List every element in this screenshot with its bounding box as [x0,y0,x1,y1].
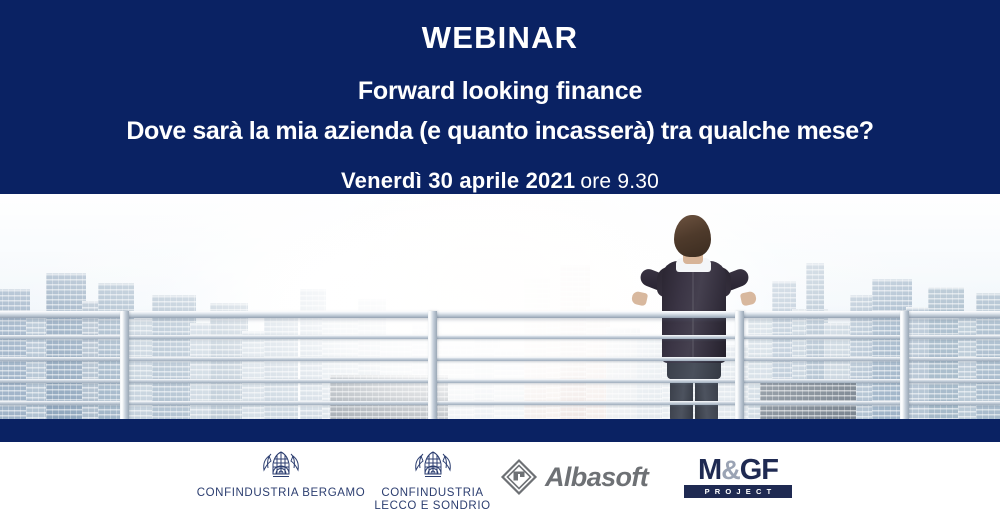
confindustria-eagle-icon [259,450,303,482]
sponsor-logo-bar: CONFINDUSTRIA BERGAMO [0,442,1000,522]
logo-mgf-project[interactable]: M&GF PROJECT [684,457,792,498]
logo-label-line-1: CONFINDUSTRIA [370,487,495,500]
webinar-banner: WEBINAR Forward looking finance Dove sar… [0,0,1000,522]
logo-albasoft[interactable]: Albasoft [500,458,665,496]
event-date: Venerdì 30 aprile 2021 [341,168,575,193]
lower-accent-band [0,419,1000,442]
albasoft-diamond-icon [500,458,538,496]
mgf-letters-gf: GF [740,454,778,486]
mgf-wordmark: M&GF [684,457,792,483]
city-skyline [0,194,1000,419]
logo-label-line-2: LECCO E SONDRIO [370,500,495,513]
mgf-letter-m: M [698,454,721,486]
logo-confindustria-lecco-sondrio[interactable]: CONFINDUSTRIA LECCO E SONDRIO [370,450,495,513]
event-type-title: WEBINAR [0,0,1000,53]
hero-photo [0,194,1000,419]
event-datetime: Venerdì 30 aprile 2021ore 9.30 [0,144,1000,192]
businessman-figure [631,215,757,419]
event-subtitle-line-1: Forward looking finance [0,53,1000,104]
mgf-ampersand: & [721,455,740,485]
header-panel: WEBINAR Forward looking finance Dove sar… [0,0,1000,194]
event-subtitle-line-2: Dove sarà la mia azienda (e quanto incas… [0,104,1000,144]
event-time: ore 9.30 [580,170,659,193]
logo-label: CONFINDUSTRIA BERGAMO [196,487,366,500]
logo-confindustria-bergamo[interactable]: CONFINDUSTRIA BERGAMO [196,450,366,500]
confindustria-eagle-icon [411,450,455,482]
logo-label: Albasoft [545,464,648,491]
mgf-tagline: PROJECT [684,485,792,498]
